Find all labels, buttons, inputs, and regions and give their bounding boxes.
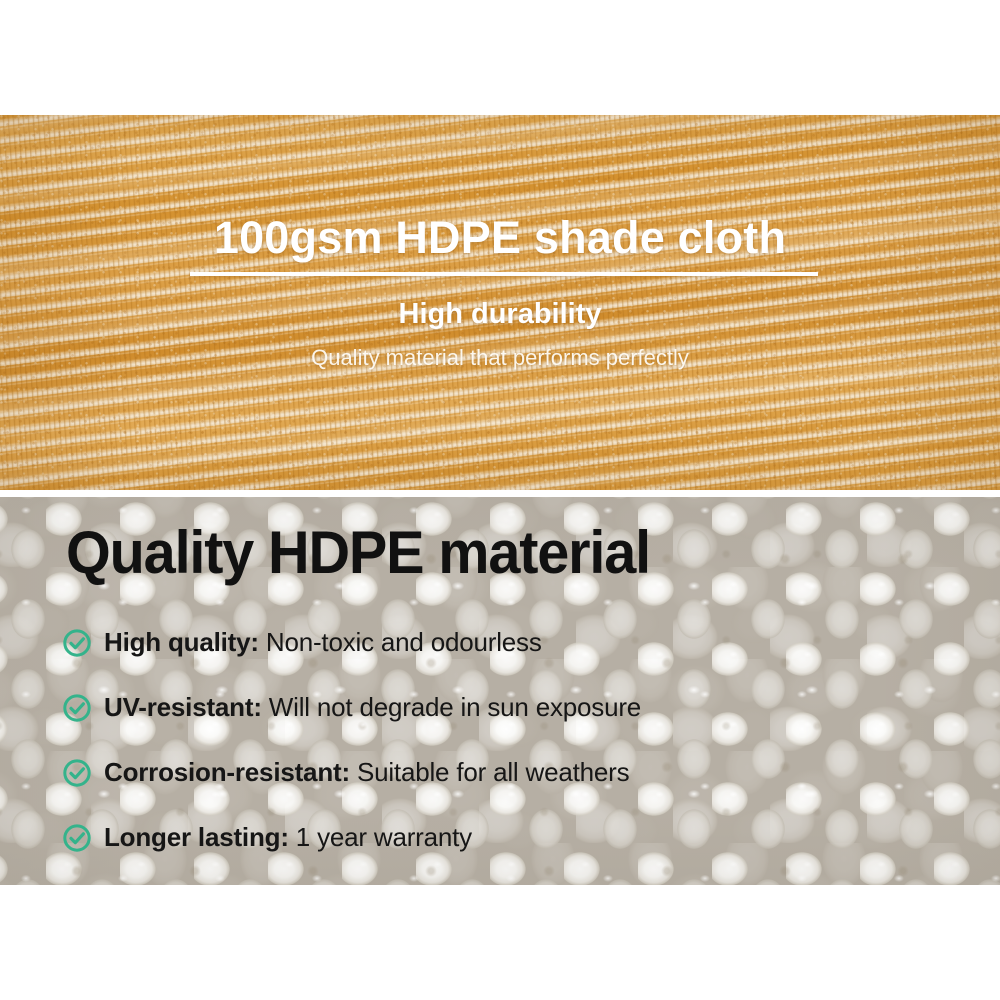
- fabric-tagline: Quality material that performs perfectly: [0, 345, 1000, 371]
- check-circle-icon: [62, 823, 92, 853]
- feature-item-corrosion-resistant: Corrosion-resistant: Suitable for all we…: [62, 740, 962, 805]
- feature-label: High quality:: [104, 627, 259, 657]
- feature-label: Corrosion-resistant:: [104, 757, 350, 787]
- headline-divider-rule: [190, 272, 818, 276]
- feature-description: Non-toxic and odourless: [259, 627, 542, 657]
- feature-description: 1 year warranty: [289, 822, 472, 852]
- pellets-panel-copy: Quality HDPE material High quality: Non-…: [0, 497, 1000, 885]
- feature-description: Suitable for all weathers: [350, 757, 630, 787]
- feature-text: Longer lasting: 1 year warranty: [104, 823, 472, 852]
- fabric-headline: 100gsm HDPE shade cloth: [0, 212, 1000, 264]
- feature-item-longer-lasting: Longer lasting: 1 year warranty: [62, 805, 962, 870]
- feature-list: High quality: Non-toxic and odourless UV…: [62, 610, 962, 870]
- feature-item-high-quality: High quality: Non-toxic and odourless: [62, 610, 962, 675]
- product-feature-image: 100gsm HDPE shade cloth High durability …: [0, 0, 1000, 1000]
- check-circle-icon: [62, 628, 92, 658]
- feature-label: Longer lasting:: [104, 822, 289, 852]
- material-title: Quality HDPE material: [66, 523, 650, 583]
- feature-text: UV-resistant: Will not degrade in sun ex…: [104, 693, 641, 722]
- shade-cloth-fabric-panel: 100gsm HDPE shade cloth High durability …: [0, 115, 1000, 490]
- feature-label: UV-resistant:: [104, 692, 262, 722]
- feature-item-uv-resistant: UV-resistant: Will not degrade in sun ex…: [62, 675, 962, 740]
- feature-text: High quality: Non-toxic and odourless: [104, 628, 542, 657]
- check-circle-icon: [62, 758, 92, 788]
- check-circle-icon: [62, 693, 92, 723]
- hdpe-pellets-panel: Quality HDPE material High quality: Non-…: [0, 497, 1000, 885]
- feature-description: Will not degrade in sun exposure: [262, 692, 641, 722]
- feature-text: Corrosion-resistant: Suitable for all we…: [104, 758, 629, 787]
- fabric-subheadline: High durability: [0, 298, 1000, 331]
